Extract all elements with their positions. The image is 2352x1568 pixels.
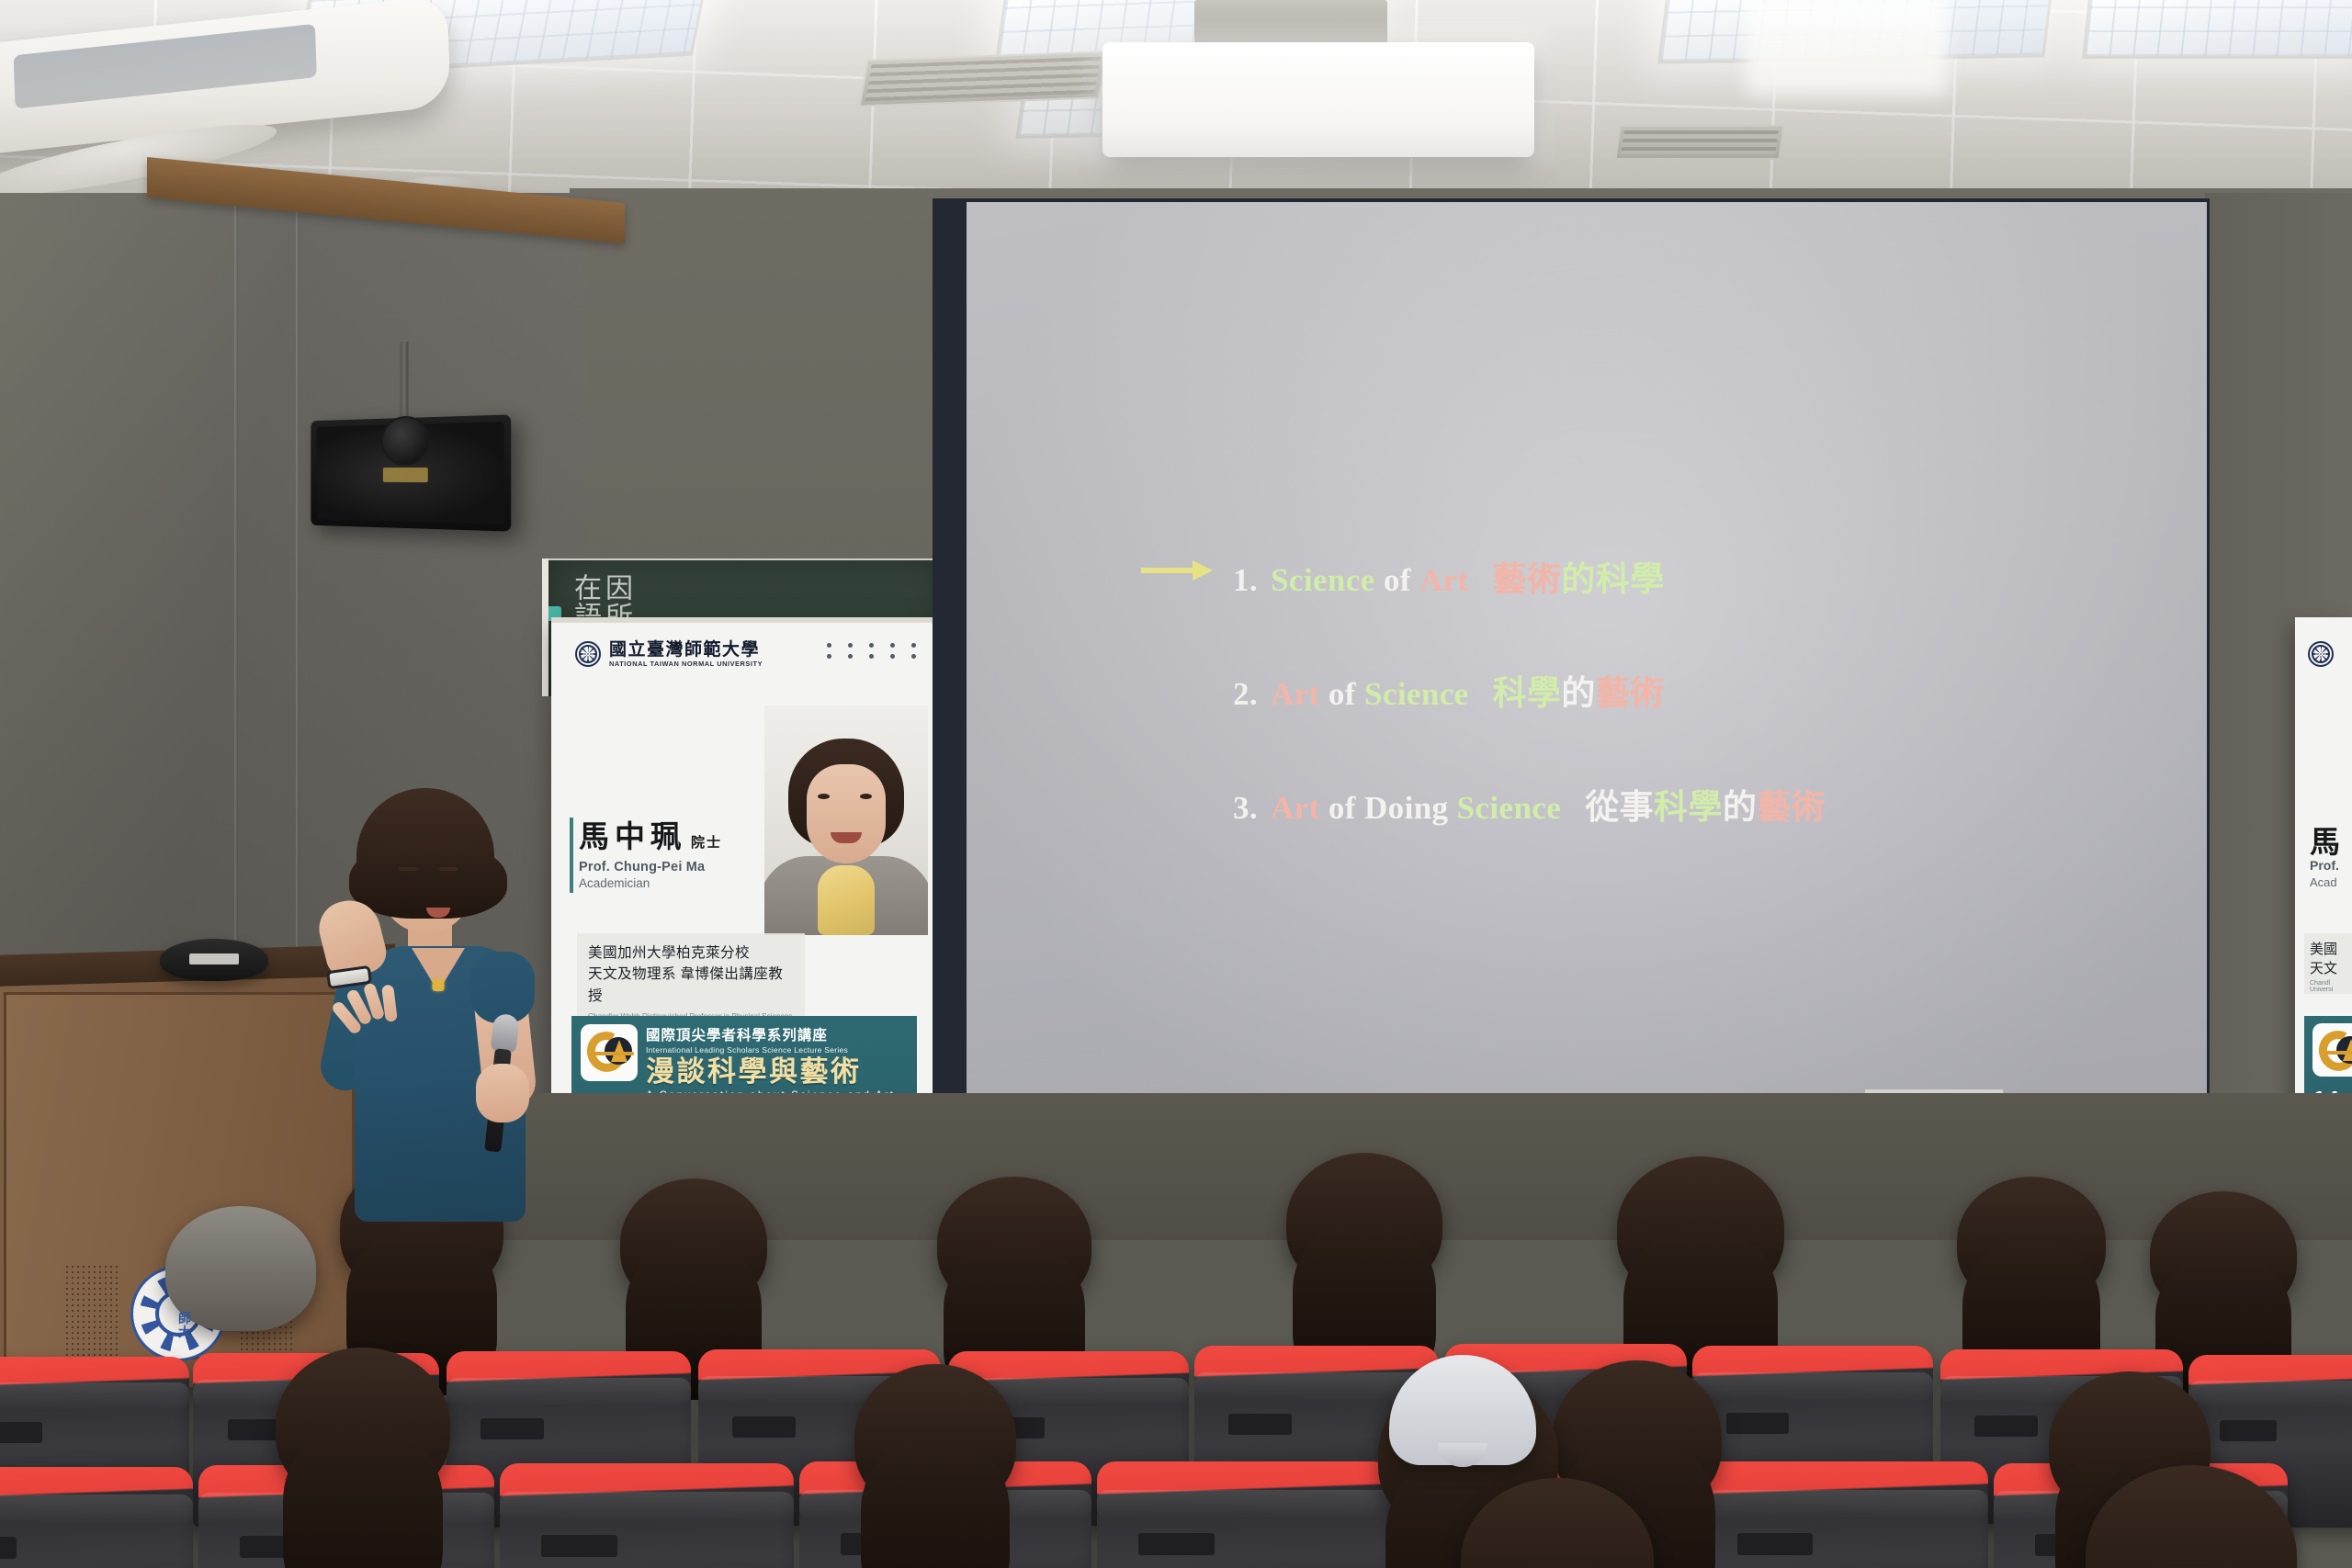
wall-speaker (311, 414, 511, 531)
slide-line-3-zh-0: 從事 (1585, 779, 1654, 829)
slide-line-2-en-1: of (1329, 676, 1356, 713)
slide-line-1-en-0: Science (1271, 562, 1375, 599)
speaker-name-zh-right: 馬 (2310, 818, 2340, 862)
slide-line-2-en-0: Art (1271, 676, 1320, 713)
presenter (323, 788, 553, 1220)
speaker-name-zh: 馬中珮 (579, 821, 686, 854)
slide-line-3-en-1: of Doing (1329, 790, 1449, 827)
slide-content: 1. Science of Art 藝術 的科學 2. Art of Scien… (1141, 551, 2170, 893)
slide-line-3-zh-1: 科學 (1654, 779, 1723, 829)
lecture-series-logo-icon (581, 1024, 638, 1081)
audience-head (937, 1177, 1091, 1309)
speaker-role-en: Academician (579, 876, 722, 890)
slide-line-2: 2. Art of Science 科學 的 藝術 (1141, 665, 2170, 715)
audience-seat[interactable] (0, 1467, 193, 1568)
podium-emblem-label: 師 大 (178, 1314, 191, 1340)
lecture-series-logo-icon-right (2312, 1023, 2352, 1077)
slide-line-2-number: 2. (1233, 676, 1258, 713)
audience-seat[interactable] (500, 1463, 794, 1568)
speaker-role-en-right: Acad (2310, 875, 2337, 889)
series-title-zh: 國際頂尖學者科學系列講座 (646, 1024, 908, 1044)
slide-line-2-en-2: Science (1364, 676, 1469, 713)
slide-line-3-zh-2: 的 (1723, 779, 1757, 829)
mic-base-label (189, 953, 239, 964)
poster-dot-decoration (827, 643, 922, 659)
projection-screen: 1. Science of Art 藝術 的科學 2. Art of Scien… (967, 202, 2207, 1231)
microphone-head (491, 1013, 520, 1055)
portrait-face (807, 764, 886, 863)
speaker-name-en: Prof. Chung-Pei Ma (579, 860, 722, 874)
audience-head (620, 1179, 767, 1307)
speaker-title-zh: 院士 (691, 836, 722, 851)
presenter-eye (401, 876, 414, 883)
slide-line-3-number: 3. (1233, 790, 1258, 827)
presenter-eye (441, 876, 455, 883)
speaker-brand-logo (383, 468, 428, 482)
poster-top-edge (551, 617, 937, 623)
slide-line-3-en-2: Science (1457, 790, 1562, 827)
speaker-name-zh-wrap: 馬中珮院士 (579, 812, 722, 856)
audience-head (1957, 1177, 2106, 1305)
podium-microphone-base (160, 939, 268, 981)
slide-line-1-zh-0: 藝術 (1493, 551, 1562, 601)
slide-line-1-en-1: of (1384, 562, 1411, 599)
audience-head (854, 1364, 1016, 1511)
speaker-portrait-photo (764, 705, 928, 935)
talk-title-zh: 漫談科學與藝術 (646, 1057, 908, 1088)
audience-head (1286, 1153, 1442, 1291)
slide-line-3: 3. Art of Doing Science 從事 科學 的 藝術 (1141, 779, 2170, 829)
university-name-zh: 國立臺灣師範大學 (609, 641, 763, 660)
arrow-right-icon (1141, 558, 1213, 582)
audience-seat[interactable] (1097, 1461, 1391, 1568)
audience-seat[interactable] (1696, 1461, 1988, 1568)
projector-mount-bracket (1194, 0, 1387, 48)
slide-line-2-zh-1: 的 (1561, 665, 1595, 715)
university-name-en: NATIONAL TAIWAN NORMAL UNIVERSITY (609, 660, 763, 668)
slide-line-1-number: 1. (1233, 562, 1258, 599)
ceiling-fixture-blurred (1746, 0, 1948, 96)
poster-university-header: 國立臺灣師範大學 NATIONAL TAIWAN NORMAL UNIVERSI… (575, 641, 763, 668)
slide-line-3-zh-3: 藝術 (1757, 779, 1826, 829)
slide-line-2-zh-2: 藝術 (1596, 665, 1665, 715)
portrait-eye (818, 794, 830, 799)
lecture-hall-photo: 因所以在語 國立臺灣師範大學 NATIONAL TAIWAN NORMAL UN… (0, 0, 2352, 1568)
audience-head (1617, 1156, 1784, 1300)
slide-line-1-en-2: Art (1419, 562, 1469, 599)
affiliation-zh-line1: 美國加州大學柏克萊分校 (588, 942, 796, 964)
slide-line-2-zh-0: 科學 (1493, 665, 1562, 715)
audience-seating (0, 1144, 2352, 1568)
presenter-right-hand (476, 1064, 529, 1122)
audience-head (276, 1348, 450, 1502)
affiliation-box-right: 美國 天文 Chandl Universi (2304, 933, 2352, 994)
poster-accent-bar (570, 818, 573, 893)
chalkboard-rail (548, 558, 946, 560)
presenter-eyebrow (399, 867, 417, 871)
presenter-hair (356, 788, 494, 909)
poster-speaker-block: 馬中珮院士 Prof. Chung-Pei Ma Academician (579, 812, 722, 890)
affiliation-zh-line2: 天文及物理系 韋博傑出講座教授 (588, 964, 796, 1007)
slide-line-1-zh-1: 的科學 (1561, 551, 1664, 601)
ntnu-seal-icon-right (2308, 641, 2334, 667)
audience-head (2150, 1191, 2297, 1316)
speaker-mount-knob (381, 415, 430, 466)
series-title-en: International Leading Scholars Science L… (646, 1045, 908, 1055)
slide-line-1: 1. Science of Art 藝術 的科學 (1141, 551, 2170, 601)
speaker-name-en-right: Prof. (2310, 858, 2339, 873)
presenter-necklace (433, 979, 445, 991)
ceiling-projector-main (1102, 42, 1534, 157)
ntnu-seal-icon (575, 641, 601, 667)
presenter-right-sleeve (470, 952, 535, 1023)
presenter-eyebrow (439, 867, 458, 871)
portrait-scarf (818, 865, 875, 935)
portrait-eye (860, 794, 872, 799)
slide-line-3-en-0: Art (1271, 790, 1320, 827)
